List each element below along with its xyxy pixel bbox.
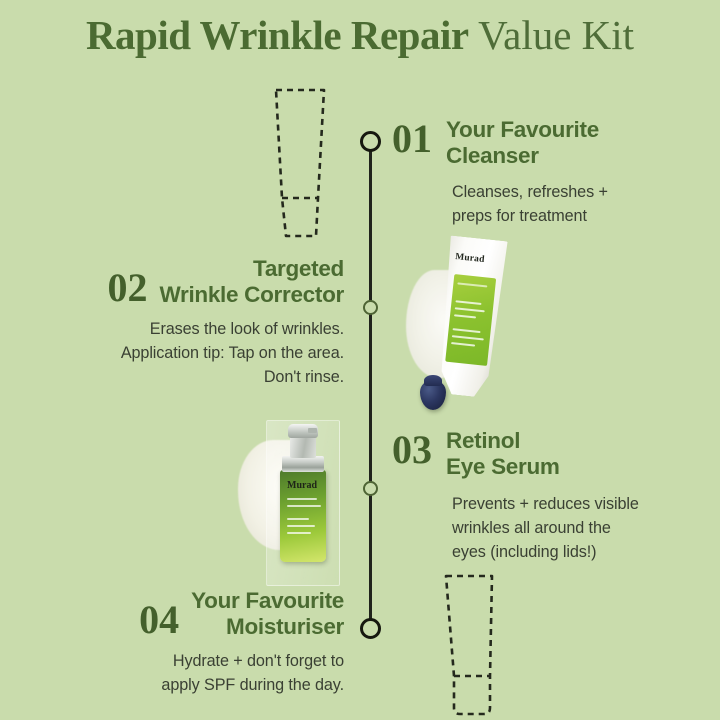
bottle-green-body: Murad	[280, 470, 326, 562]
step-03-body-line1: Prevents + reduces visible	[452, 492, 639, 516]
product-image-retinol-eye-serum: Murad	[238, 416, 378, 588]
step-01-body-line1: Cleanses, refreshes +	[452, 180, 608, 204]
step-02-heading-line1: Targeted	[159, 256, 344, 282]
step-04-body-line2: apply SPF during the day.	[40, 673, 344, 697]
step-01-heading-line1: Your Favourite	[446, 117, 599, 143]
step-01-number: 01	[392, 117, 432, 159]
step-04-heading-line2: Moisturiser	[191, 614, 344, 640]
murad-tube: Murad	[432, 235, 510, 399]
step-03-heading-line2: Eye Serum	[446, 454, 560, 480]
value-kit-infographic: Rapid Wrinkle Repair Value Kit Murad	[0, 0, 720, 720]
step-04-body-line1: Hydrate + don't forget to	[40, 649, 344, 673]
step-02-heading: Targeted Wrinkle Corrector	[159, 256, 344, 307]
tube-cap	[420, 380, 446, 410]
step-03: 03 Retinol Eye Serum Prevents + reduces …	[392, 428, 639, 564]
step-03-number: 03	[392, 428, 432, 470]
step-02-body-line3: Don't rinse.	[40, 365, 344, 389]
step-01-header: 01 Your Favourite Cleanser	[392, 117, 608, 168]
page-title: Rapid Wrinkle Repair Value Kit	[0, 8, 720, 62]
moisturiser-placeholder-tube-icon	[432, 572, 512, 720]
step-03-heading-line1: Retinol	[446, 428, 560, 454]
step-02-heading-line2: Wrinkle Corrector	[159, 282, 344, 308]
bottle-brand-label: Murad	[287, 480, 317, 491]
cleanser-placeholder-tube-icon	[260, 86, 340, 246]
step-02-body: Erases the look of wrinkles. Application…	[40, 317, 344, 389]
step-04-number: 04	[139, 588, 179, 640]
bottle-collar	[282, 456, 324, 472]
step-03-body-line2: wrinkles all around the	[452, 516, 639, 540]
step-04-heading: Your Favourite Moisturiser	[191, 588, 344, 639]
title-bold-part: Rapid Wrinkle Repair	[86, 12, 469, 58]
step-01-heading-line2: Cleanser	[446, 143, 599, 169]
step-03-heading: Retinol Eye Serum	[446, 428, 560, 479]
step-02-header: 02 Targeted Wrinkle Corrector	[40, 256, 344, 308]
step-02-number: 02	[107, 256, 147, 308]
bottle-pump-head	[288, 424, 318, 438]
step-03-body-line3: eyes (including lids!)	[452, 540, 639, 564]
step-01-body: Cleanses, refreshes + preps for treatmen…	[452, 180, 608, 228]
step-04: 04 Your Favourite Moisturiser Hydrate + …	[40, 588, 344, 697]
title-light-part: Value Kit	[478, 12, 634, 58]
timeline-dot-04	[360, 618, 381, 639]
step-02: 02 Targeted Wrinkle Corrector Erases the…	[40, 256, 344, 389]
step-04-header: 04 Your Favourite Moisturiser	[40, 588, 344, 640]
step-01: 01 Your Favourite Cleanser Cleanses, ref…	[392, 117, 608, 228]
step-01-body-line2: preps for treatment	[452, 204, 608, 228]
product-image-wrinkle-corrector: Murad	[404, 232, 534, 407]
step-02-body-line1: Erases the look of wrinkles.	[40, 317, 344, 341]
step-04-heading-line1: Your Favourite	[191, 588, 344, 614]
step-04-body: Hydrate + don't forget to apply SPF duri…	[40, 649, 344, 697]
bottle-neck	[290, 436, 316, 458]
step-03-body: Prevents + reduces visible wrinkles all …	[452, 492, 639, 564]
step-03-header: 03 Retinol Eye Serum	[392, 428, 639, 479]
step-01-heading: Your Favourite Cleanser	[446, 117, 599, 168]
timeline-dot-02	[363, 300, 378, 315]
timeline-dot-01	[360, 131, 381, 152]
step-02-body-line2: Application tip: Tap on the area.	[40, 341, 344, 365]
